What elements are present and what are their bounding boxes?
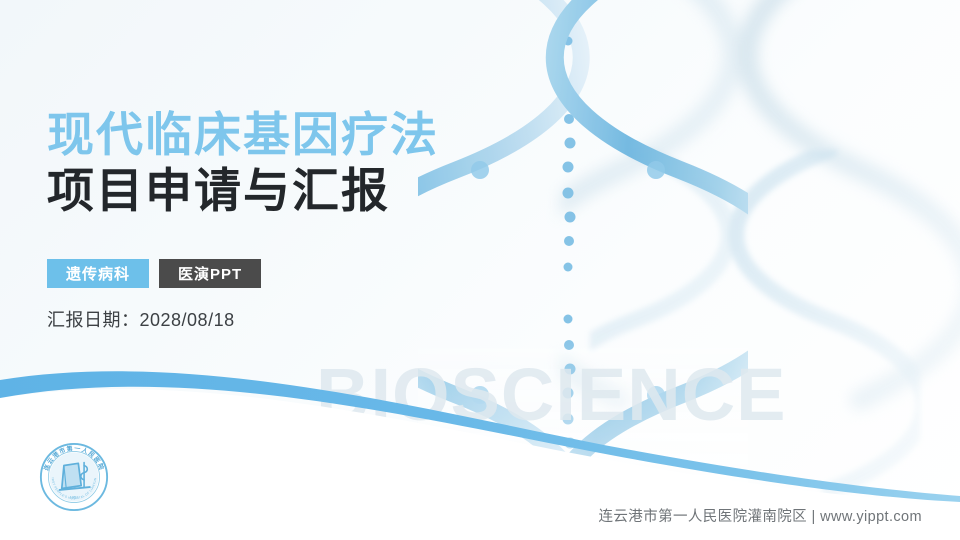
- badge-group: 遗传病科 医演PPT: [47, 259, 261, 288]
- title-line-primary: 现代临床基因疗法: [47, 108, 439, 161]
- badge-department[interactable]: 遗传病科: [47, 259, 149, 288]
- badge-brand[interactable]: 医演PPT: [159, 259, 261, 288]
- hospital-logo: 连云港市第一人民医院 THE FIRST PEOPLE'S HOSPITAL O…: [38, 441, 110, 513]
- title-line-secondary: 项目申请与汇报: [47, 164, 439, 217]
- title-slide: BIOSCIENCE 现代临床基因疗法 项目申请: [0, 0, 960, 540]
- footer-institution-text: 连云港市第一人民医院灌南院区 | www.yippt.com: [598, 505, 922, 526]
- page-title: 现代临床基因疗法 项目申请与汇报: [47, 108, 439, 217]
- svg-text:1951: 1951: [70, 495, 79, 500]
- report-date: 汇报日期：2028/08/18: [47, 306, 235, 332]
